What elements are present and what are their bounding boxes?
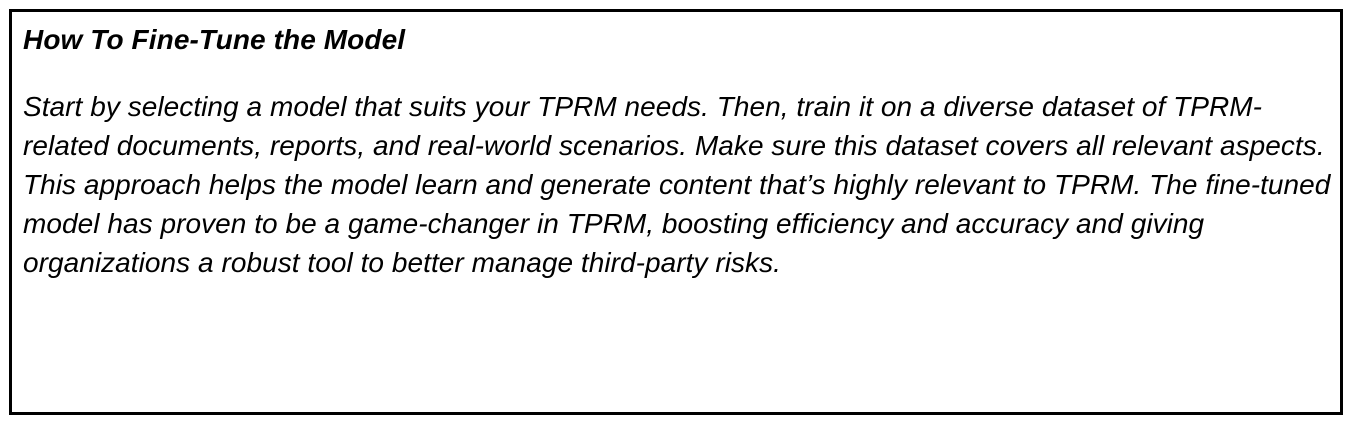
callout-body-text: Start by selecting a model that suits yo… — [23, 87, 1335, 282]
title-body-spacer — [23, 58, 1334, 87]
callout-box: How To Fine-Tune the Model Start by sele… — [9, 9, 1343, 415]
callout-title: How To Fine-Tune the Model — [23, 22, 1334, 58]
callout-content: How To Fine-Tune the Model Start by sele… — [23, 22, 1334, 412]
